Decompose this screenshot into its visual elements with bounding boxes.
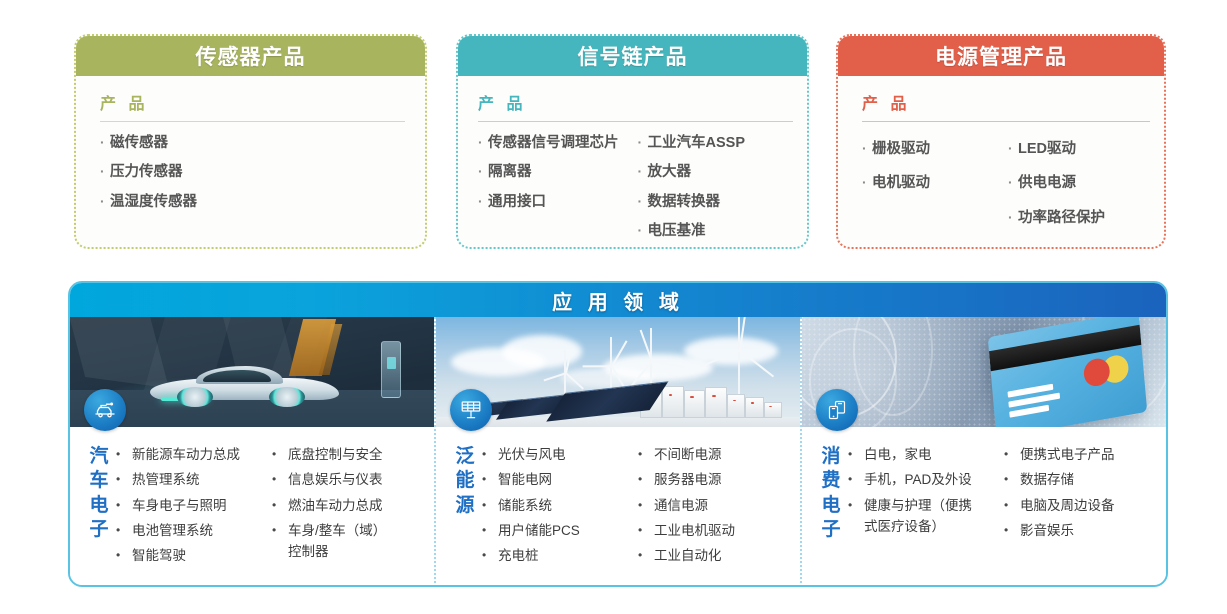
credit-card-illustration <box>988 317 1147 427</box>
list-item-label: 服务器电源 <box>654 470 794 490</box>
bullet-icon: • <box>638 546 654 564</box>
bullet-icon: • <box>638 470 654 488</box>
bullet-icon: • <box>116 496 132 514</box>
slide-root: 传感器产品 产 品 ·磁传感器 ·压力传感器 ·温湿度传感器 信号链产品 产 品… <box>0 0 1227 614</box>
list-item-label: 通信电源 <box>654 496 794 516</box>
consumer-row: 消费电子 •白电，家电 •手机，PAD及外设 •健康与护理（便携 式医疗设备） … <box>808 435 1160 546</box>
list-item: •电池管理系统 <box>116 521 272 541</box>
battery-storage-unit <box>727 394 745 418</box>
bullet-icon: · <box>638 220 648 242</box>
bullet-icon: · <box>862 138 872 160</box>
bullet-icon: · <box>862 172 872 194</box>
bullet-icon: · <box>478 161 488 183</box>
list-item-label: 放大器 <box>648 161 794 183</box>
list-item: ·功率路径保护 <box>1008 207 1150 229</box>
car-wheel <box>269 387 305 407</box>
list-item: •燃油车动力总成 <box>272 496 428 516</box>
list-item-label: 磁传感器 <box>110 132 405 154</box>
list-column: •底盘控制与安全 •信息娱乐与仪表 •燃油车动力总成 •车身/整车（域） 控制器 <box>272 445 428 571</box>
bullet-icon: • <box>1004 470 1020 488</box>
bullet-icon: • <box>1004 521 1020 539</box>
list-item: ·栅极驱动 <box>862 138 1004 160</box>
card-column: ·LED驱动 ·供电电源 ·功率路径保护 <box>1008 138 1150 241</box>
bullet-icon: • <box>848 445 864 463</box>
list-item-label: 车身电子与照明 <box>132 496 272 516</box>
list-item-label: 工业自动化 <box>654 546 794 566</box>
section-label-energy: 泛能源 <box>448 435 482 571</box>
list-column: •新能源车动力总成 •热管理系统 •车身电子与照明 •电池管理系统 •智能驾驶 <box>116 445 272 571</box>
battery-storage-unit <box>745 397 763 418</box>
list-item: •不间断电源 <box>638 445 794 465</box>
list-item: ·工业汽车ASSP <box>638 132 794 154</box>
bullet-icon: • <box>1004 445 1020 463</box>
list-item-label: 压力传感器 <box>110 161 405 183</box>
list-item-label: 电机驱动 <box>872 172 1004 194</box>
list-item: •工业电机驱动 <box>638 521 794 541</box>
energy-lists: •光伏与风电 •智能电网 •储能系统 •用户储能PCS •充电桩 •不间断电源 … <box>482 435 794 571</box>
energy-row: 泛能源 •光伏与风电 •智能电网 •储能系统 •用户储能PCS •充电桩 •不间… <box>442 435 794 571</box>
list-item: •用户储能PCS <box>482 521 638 541</box>
section-label-consumer: 消费电子 <box>814 435 848 546</box>
list-item: •电脑及周边设备 <box>1004 496 1160 516</box>
list-item-label: 式医疗设备） <box>864 517 1004 537</box>
list-item: •信息娱乐与仪表 <box>272 470 428 490</box>
bullet-icon: · <box>638 191 648 213</box>
list-item-label: 功率路径保护 <box>1018 207 1150 229</box>
list-item: •车身/整车（域） <box>272 521 428 541</box>
automotive-row: 汽车电子 •新能源车动力总成 •热管理系统 •车身电子与照明 •电池管理系统 •… <box>76 435 428 571</box>
list-item-label: 电脑及周边设备 <box>1020 496 1160 516</box>
list-item-continuation: 控制器 <box>272 542 428 562</box>
list-item: •数据存储 <box>1004 470 1160 490</box>
bullet-icon: • <box>116 470 132 488</box>
bullet-icon: · <box>100 191 110 213</box>
card-column: ·工业汽车ASSP ·放大器 ·数据转换器 ·电压基准 <box>638 132 794 250</box>
list-item: •工业自动化 <box>638 546 794 566</box>
bullet-icon: • <box>638 521 654 539</box>
card-column: ·栅极驱动 ·电机驱动 <box>862 138 1004 241</box>
bullet-icon: • <box>482 521 498 539</box>
list-item-label: 智能电网 <box>498 470 638 490</box>
bullet-icon: • <box>272 445 288 463</box>
list-item-label: 控制器 <box>288 542 428 562</box>
product-card-signal-chain: 信号链产品 产 品 ·传感器信号调理芯片 ·隔离器 ·通用接口 ·工业汽车ASS… <box>456 34 809 249</box>
list-item: •便携式电子产品 <box>1004 445 1160 465</box>
card-column: ·磁传感器 ·压力传感器 ·温湿度传感器 <box>100 132 405 220</box>
bullet-icon: · <box>1008 207 1018 229</box>
list-item: •智能电网 <box>482 470 638 490</box>
list-column: •光伏与风电 •智能电网 •储能系统 •用户储能PCS •充电桩 <box>482 445 638 571</box>
bullet-icon: · <box>1008 138 1018 160</box>
product-card-power-management: 电源管理产品 产 品 ·栅极驱动 ·电机驱动 ·LED驱动 ·供电电源 ·功率路… <box>836 34 1166 249</box>
list-item: ·供电电源 <box>1008 172 1150 194</box>
list-item-label: 用户储能PCS <box>498 521 638 541</box>
bullet-icon: • <box>638 445 654 463</box>
consumer-lists: •白电，家电 •手机，PAD及外设 •健康与护理（便携 式医疗设备） •便携式电… <box>848 435 1160 546</box>
bullet-icon: • <box>116 445 132 463</box>
card-columns-signal-chain: ·传感器信号调理芯片 ·隔离器 ·通用接口 ·工业汽车ASSP ·放大器 ·数据… <box>478 132 793 250</box>
application-domains-panel: 应 用 领 域 <box>68 281 1168 587</box>
application-section-energy: 泛能源 •光伏与风电 •智能电网 •储能系统 •用户储能PCS •充电桩 •不间… <box>434 317 800 587</box>
card-title-sensor: 传感器产品 <box>76 36 425 76</box>
list-item-label: 供电电源 <box>1018 172 1150 194</box>
bullet-icon: • <box>482 445 498 463</box>
charging-station-icon <box>381 341 401 398</box>
list-item: •影音娱乐 <box>1004 521 1160 541</box>
list-item: ·磁传感器 <box>100 132 405 154</box>
card-body-signal-chain: 产 品 ·传感器信号调理芯片 ·隔离器 ·通用接口 ·工业汽车ASSP ·放大器… <box>458 76 807 260</box>
card-body-power-management: 产 品 ·栅极驱动 ·电机驱动 ·LED驱动 ·供电电源 ·功率路径保护 <box>838 76 1164 251</box>
list-item-label: 车身/整车（域） <box>288 521 428 541</box>
list-item: ·隔离器 <box>478 161 634 183</box>
list-item: ·电压基准 <box>638 220 794 242</box>
bullet-icon: · <box>638 132 648 154</box>
ev-car-charging-icon <box>84 389 126 431</box>
list-item: •手机，PAD及外设 <box>848 470 1004 490</box>
list-item-label: 便携式电子产品 <box>1020 445 1160 465</box>
list-item-label: 影音娱乐 <box>1020 521 1160 541</box>
list-item: ·通用接口 <box>478 191 634 213</box>
car-wheel <box>177 387 213 407</box>
list-column: •便携式电子产品 •数据存储 •电脑及周边设备 •影音娱乐 <box>1004 445 1160 546</box>
list-item: ·放大器 <box>638 161 794 183</box>
automotive-content: 汽车电子 •新能源车动力总成 •热管理系统 •车身电子与照明 •电池管理系统 •… <box>70 427 434 587</box>
bullet-icon: · <box>638 161 648 183</box>
list-item: ·温湿度传感器 <box>100 191 405 213</box>
bullet-icon: · <box>478 132 488 154</box>
list-item-label: 通用接口 <box>488 191 634 213</box>
card-rule-sensor <box>100 121 405 122</box>
list-item-label: 手机，PAD及外设 <box>864 470 1004 490</box>
list-item: •热管理系统 <box>116 470 272 490</box>
list-item: •通信电源 <box>638 496 794 516</box>
electric-car-illustration <box>150 364 339 408</box>
list-item-label: 底盘控制与安全 <box>288 445 428 465</box>
card-title-power-management: 电源管理产品 <box>838 36 1164 76</box>
card-subtitle-sensor: 产 品 <box>100 90 405 121</box>
list-item-label: 电压基准 <box>648 220 794 242</box>
card-columns-sensor: ·磁传感器 ·压力传感器 ·温湿度传感器 <box>100 132 405 220</box>
list-item-label: 健康与护理（便携 <box>864 496 1004 516</box>
list-item-label: 工业汽车ASSP <box>648 132 794 154</box>
decor-ground <box>436 417 800 427</box>
list-item-label: 电池管理系统 <box>132 521 272 541</box>
list-item-label: 智能驾驶 <box>132 546 272 566</box>
bullet-icon: · <box>1008 172 1018 194</box>
list-item: ·压力传感器 <box>100 161 405 183</box>
list-item-label: 数据存储 <box>1020 470 1160 490</box>
list-item-label: LED驱动 <box>1018 138 1150 160</box>
application-banner-title: 应 用 领 域 <box>70 283 1166 317</box>
list-item-label: 白电，家电 <box>864 445 1004 465</box>
application-section-consumer: 消费电子 •白电，家电 •手机，PAD及外设 •健康与护理（便携 式医疗设备） … <box>800 317 1166 587</box>
card-rule-power-management <box>862 121 1150 122</box>
list-item-label: 工业电机驱动 <box>654 521 794 541</box>
application-section-automotive: 汽车电子 •新能源车动力总成 •热管理系统 •车身电子与照明 •电池管理系统 •… <box>70 317 434 587</box>
list-item-label: 隔离器 <box>488 161 634 183</box>
energy-content: 泛能源 •光伏与风电 •智能电网 •储能系统 •用户储能PCS •充电桩 •不间… <box>436 427 800 587</box>
card-rule-signal-chain <box>478 121 793 122</box>
card-subtitle-power-management: 产 品 <box>862 90 1150 121</box>
bullet-icon: • <box>482 546 498 564</box>
card-title-signal-chain: 信号链产品 <box>458 36 807 76</box>
card-columns-power-management: ·栅极驱动 ·电机驱动 ·LED驱动 ·供电电源 ·功率路径保护 <box>862 132 1150 241</box>
bullet-icon: · <box>478 191 488 213</box>
list-item: ·数据转换器 <box>638 191 794 213</box>
list-item: •健康与护理（便携 <box>848 496 1004 516</box>
list-item: •新能源车动力总成 <box>116 445 272 465</box>
list-item-label: 信息娱乐与仪表 <box>288 470 428 490</box>
bullet-icon: • <box>116 546 132 564</box>
list-item: •智能驾驶 <box>116 546 272 566</box>
list-item: •服务器电源 <box>638 470 794 490</box>
bullet-icon: • <box>482 496 498 514</box>
bullet-icon: • <box>116 521 132 539</box>
bullet-icon: · <box>100 132 110 154</box>
list-column: •白电，家电 •手机，PAD及外设 •健康与护理（便携 式医疗设备） <box>848 445 1004 546</box>
battery-storage-unit <box>662 386 684 418</box>
bullet-icon: • <box>272 470 288 488</box>
list-item-label: 新能源车动力总成 <box>132 445 272 465</box>
bullet-icon: • <box>482 470 498 488</box>
section-label-automotive: 汽车电子 <box>82 435 116 571</box>
battery-storage-unit <box>705 387 727 418</box>
list-item-label: 燃油车动力总成 <box>288 496 428 516</box>
product-card-sensor: 传感器产品 产 品 ·磁传感器 ·压力传感器 ·温湿度传感器 <box>74 34 427 249</box>
application-columns: 汽车电子 •新能源车动力总成 •热管理系统 •车身电子与照明 •电池管理系统 •… <box>70 317 1166 587</box>
bullet-icon: • <box>272 521 288 539</box>
list-item-label: 储能系统 <box>498 496 638 516</box>
list-item-label: 数据转换器 <box>648 191 794 213</box>
list-item: ·LED驱动 <box>1008 138 1150 160</box>
battery-storage-unit <box>764 402 782 419</box>
list-column: •不间断电源 •服务器电源 •通信电源 •工业电机驱动 •工业自动化 <box>638 445 794 571</box>
bullet-icon: • <box>1004 496 1020 514</box>
automotive-lists: •新能源车动力总成 •热管理系统 •车身电子与照明 •电池管理系统 •智能驾驶 … <box>116 435 428 571</box>
list-item-label: 不间断电源 <box>654 445 794 465</box>
consumer-content: 消费电子 •白电，家电 •手机，PAD及外设 •健康与护理（便携 式医疗设备） … <box>802 427 1166 587</box>
card-subtitle-signal-chain: 产 品 <box>478 90 793 121</box>
list-item: •白电，家电 <box>848 445 1004 465</box>
list-item: •光伏与风电 <box>482 445 638 465</box>
battery-storage-unit <box>684 390 706 419</box>
bullet-icon: · <box>100 161 110 183</box>
bullet-icon: • <box>272 496 288 514</box>
list-item-label: 栅极驱动 <box>872 138 1004 160</box>
list-item: •车身电子与照明 <box>116 496 272 516</box>
list-item-label: 传感器信号调理芯片 <box>488 132 634 154</box>
bullet-icon: • <box>848 496 864 514</box>
list-item-label: 光伏与风电 <box>498 445 638 465</box>
card-column: ·传感器信号调理芯片 ·隔离器 ·通用接口 <box>478 132 634 250</box>
list-item: •底盘控制与安全 <box>272 445 428 465</box>
solar-panel-icon <box>450 389 492 431</box>
card-body-sensor: 产 品 ·磁传感器 ·压力传感器 ·温湿度传感器 <box>76 76 425 230</box>
list-item: •充电桩 <box>482 546 638 566</box>
bullet-icon: • <box>638 496 654 514</box>
list-item: ·电机驱动 <box>862 172 1004 194</box>
list-item: •储能系统 <box>482 496 638 516</box>
list-item-label: 温湿度传感器 <box>110 191 405 213</box>
bullet-icon: • <box>848 470 864 488</box>
mobile-devices-icon <box>816 389 858 431</box>
list-item-label: 充电桩 <box>498 546 638 566</box>
list-item-label: 热管理系统 <box>132 470 272 490</box>
list-item-continuation: 式医疗设备） <box>848 517 1004 537</box>
list-item: ·传感器信号调理芯片 <box>478 132 634 154</box>
